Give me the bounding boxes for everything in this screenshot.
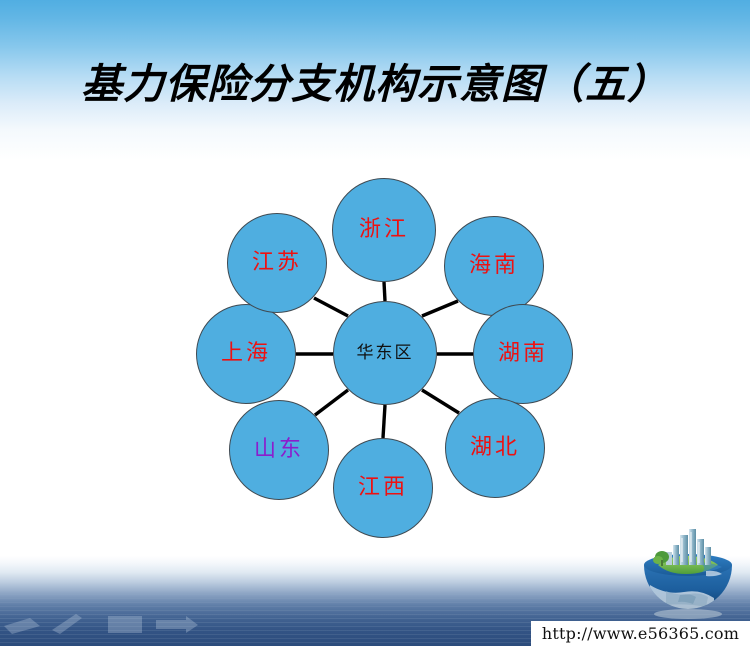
edge-center-to-hubei xyxy=(422,390,459,413)
node-shanghai[interactable]: 上海 xyxy=(196,304,296,404)
node-hunan[interactable]: 湖南 xyxy=(473,304,573,404)
node-label: 湖南 xyxy=(498,343,548,365)
node-hainan[interactable]: 海南 xyxy=(444,216,544,316)
earth-city-globe-icon xyxy=(636,521,740,621)
edge-center-to-jiangsu xyxy=(314,298,348,316)
edge-center-to-hainan xyxy=(422,301,458,316)
edge-center-to-jiangxi xyxy=(383,405,385,438)
node-zhejiang[interactable]: 浙江 xyxy=(332,178,436,282)
org-chart-diagram: 浙江 海南 湖南 湖北 江西 山东 上海 江苏 华东区 xyxy=(175,168,595,528)
node-label: 上海 xyxy=(221,343,271,365)
sea-foreground-shapes xyxy=(0,596,290,640)
page-title: 基力保险分支机构示意图（五） xyxy=(0,58,750,110)
edge-center-to-shandong xyxy=(315,390,348,415)
node-hubei[interactable]: 湖北 xyxy=(445,398,545,498)
slide-canvas: 基力保险分支机构示意图（五） 浙江 海南 湖南 湖北 xyxy=(0,0,750,646)
node-jiangxi[interactable]: 江西 xyxy=(333,438,433,538)
watermark-url-text: http://www.e56365.com xyxy=(542,624,739,643)
edge-center-to-zhejiang xyxy=(384,282,385,301)
node-label: 江苏 xyxy=(252,252,302,274)
node-label: 山东 xyxy=(254,439,304,461)
node-label: 浙江 xyxy=(359,219,409,241)
node-center-east-china[interactable]: 华东区 xyxy=(333,301,437,405)
node-jiangsu[interactable]: 江苏 xyxy=(227,213,327,313)
watermark-url-bar: http://www.e56365.com xyxy=(531,621,750,646)
node-label: 江西 xyxy=(358,477,408,499)
node-shandong[interactable]: 山东 xyxy=(229,400,329,500)
node-label: 华东区 xyxy=(357,345,414,362)
node-label: 海南 xyxy=(469,255,519,277)
node-label: 湖北 xyxy=(470,437,520,459)
